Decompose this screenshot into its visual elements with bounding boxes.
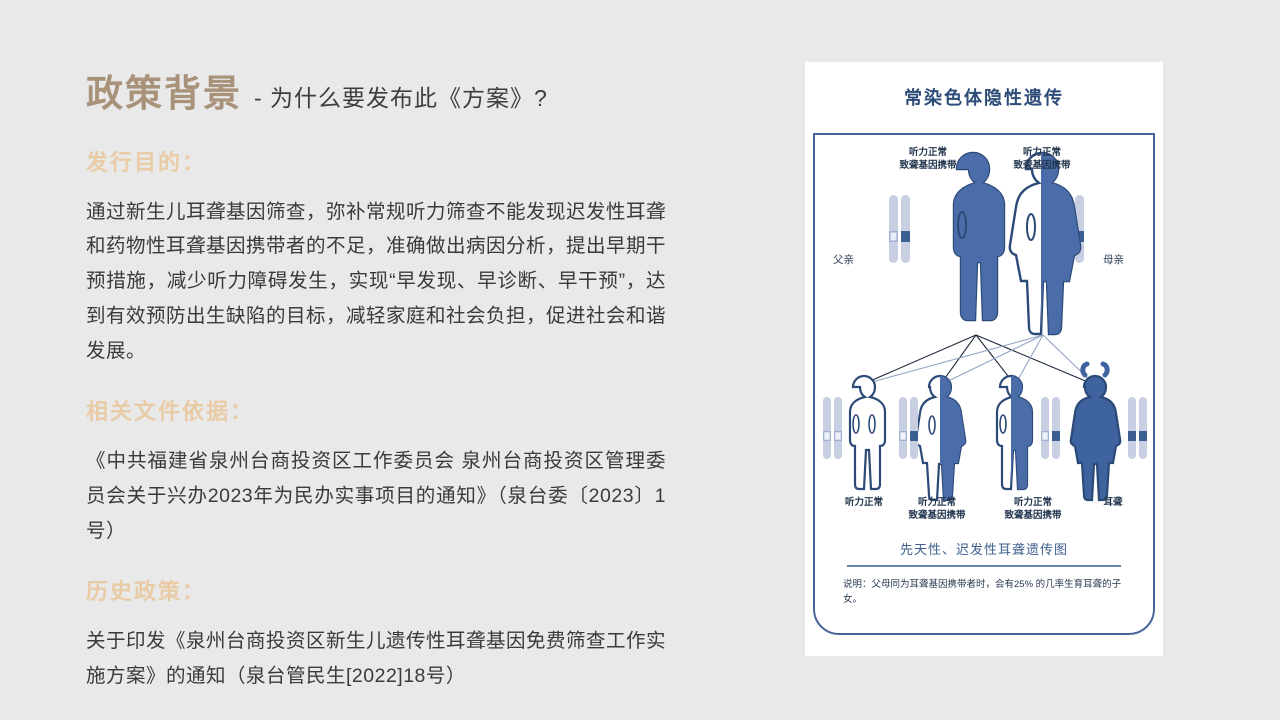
father-side-label: 父亲 <box>833 253 854 267</box>
caption-divider <box>847 565 1121 567</box>
father-status-label: 听力正常 致聋基因携带 <box>873 147 983 173</box>
pedigree-svg <box>815 135 1157 535</box>
section-body-purpose: 通过新生儿耳聋基因筛查，弥补常规听力筛查不能发现迟发性耳聋和药物性耳聋基因携带者… <box>86 195 666 369</box>
child-1-figure <box>850 376 885 489</box>
child-3-status-label: 听力正常 致聋基因携带 <box>987 497 1079 523</box>
father-chromosomes <box>889 195 910 263</box>
section-heading-documents: 相关文件依据： <box>86 394 666 426</box>
father-inheritance-lines <box>861 335 1095 385</box>
child-2-chromosomes <box>899 397 918 459</box>
figure-title: 常染色体隐性遗传 <box>805 84 1163 110</box>
mother-figure <box>1010 153 1080 334</box>
child-3-figure <box>997 376 1032 489</box>
pedigree-diagram: 听力正常 致聋基因携带 听力正常 致聋基因携带 父亲 母亲 <box>815 135 1153 633</box>
figure-note: 说明：父母同为耳聋基因携带者时，会有25% 的几率生育耳聋的子女。 <box>843 577 1131 607</box>
section-body-history: 关于印发《泉州台商投资区新生儿遗传性耳聋基因免费筛查工作实施方案》的通知（泉台管… <box>86 624 666 693</box>
father-figure <box>954 153 1004 320</box>
page-title: 政策背景 <box>86 74 242 115</box>
mother-side-label: 母亲 <box>1103 253 1124 267</box>
genetics-figure-card: 常染色体隐性遗传 听力正常 致聋基因携带 听力正常 致聋基因携带 父亲 母亲 <box>805 62 1163 656</box>
mother-status-label: 听力正常 致聋基因携带 <box>987 147 1097 173</box>
section-heading-history: 历史政策： <box>86 574 666 606</box>
child-4-status-label: 耳聋 <box>1077 497 1149 510</box>
child-2-figure <box>916 376 966 500</box>
child-2-status-label: 听力正常 致聋基因携带 <box>891 497 983 523</box>
figure-caption: 先天性、迟发性耳聋遗传图 <box>815 539 1153 558</box>
slide-root: 政策背景 - 为什么要发布此《方案》? 发行目的： 通过新生儿耳聋基因筛查，弥补… <box>0 0 1280 720</box>
page-subtitle: - 为什么要发布此《方案》? <box>254 79 548 113</box>
child-1-chromosomes <box>823 397 842 459</box>
page-title-row: 政策背景 - 为什么要发布此《方案》? <box>86 74 666 115</box>
child-4-chromosomes <box>1128 397 1147 459</box>
child-3-chromosomes <box>1041 397 1060 459</box>
content-column: 政策背景 - 为什么要发布此《方案》? 发行目的： 通过新生儿耳聋基因筛查，弥补… <box>86 74 666 694</box>
child-4-figure <box>1071 364 1121 500</box>
mother-inheritance-lines <box>861 335 1095 385</box>
section-body-documents: 《中共福建省泉州台商投资区工作委员会 泉州台商投资区管理委员会关于兴办2023年… <box>86 444 666 548</box>
section-heading-purpose: 发行目的： <box>86 145 666 177</box>
figure-frame: 听力正常 致聋基因携带 听力正常 致聋基因携带 父亲 母亲 <box>813 133 1155 635</box>
